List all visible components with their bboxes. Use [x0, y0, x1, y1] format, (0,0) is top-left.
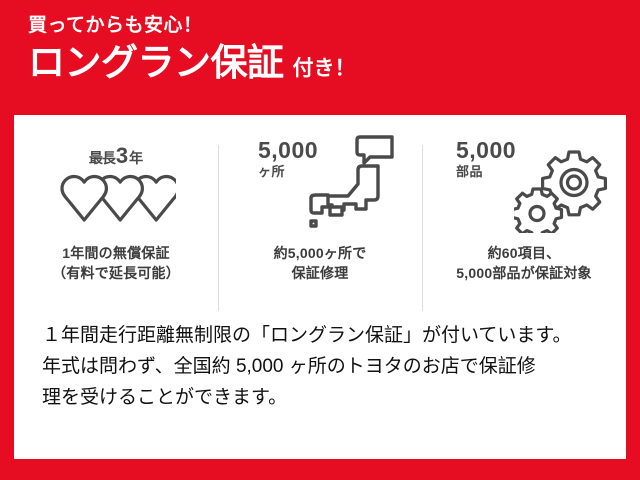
- warranty-term-caption: 1年間の無償保証 （有料で延長可能）: [52, 243, 180, 284]
- warranty-term-art: 最長 3 年: [56, 143, 176, 232]
- warranty-term-label: 最長 3 年: [89, 143, 143, 169]
- service-locations-caption: 約5,000ヶ所で 保証修理: [274, 243, 367, 284]
- description-line-3: 理を受けることができます。: [42, 383, 602, 414]
- warranty-term-icon-block: 最長 3 年: [20, 131, 212, 243]
- content-card: 最長 3 年: [14, 115, 626, 459]
- covered-parts-caption: 約60項目、 5,000部品が保証対象: [456, 243, 591, 284]
- service-locations-icon-block: 5,000 ヶ所: [224, 131, 416, 243]
- warranty-term-caption-line2: （有料で延長可能）: [52, 263, 180, 283]
- warranty-term-prefix: 最長: [89, 148, 115, 168]
- banner-title-suffix: 付き！: [293, 52, 356, 82]
- service-locations-caption-line2: 保証修理: [274, 263, 367, 283]
- gears-icon: [514, 149, 608, 238]
- description-paragraph: １年間走行距離無制限の「ロングラン保証」が付いています。 年式は問わず、全国約 …: [42, 321, 602, 413]
- description-line-1: １年間走行距離無制限の「ロングラン保証」が付いています。: [42, 321, 602, 352]
- long-run-warranty-banner: 買ってからも安心！ ロングラン保証 付き！ 最長 3 年: [0, 0, 640, 480]
- banner-title: ロングラン保証: [28, 44, 284, 83]
- covered-parts-label: 5,000 部品: [456, 139, 516, 178]
- banner-kicker: 買ってからも安心！: [28, 14, 356, 38]
- warranty-term-caption-line1: 1年間の無償保証: [52, 243, 180, 263]
- feature-service-locations: 5,000 ヶ所: [218, 131, 422, 311]
- feature-covered-parts: 5,000 部品: [422, 131, 626, 311]
- covered-parts-icon-block: 5,000 部品: [428, 131, 620, 243]
- covered-parts-unit: 部品: [456, 165, 516, 178]
- covered-parts-number: 5,000: [456, 139, 516, 162]
- covered-parts-caption-line1: 約60項目、: [456, 243, 591, 263]
- warranty-term-unit: 年: [129, 148, 143, 168]
- three-hearts-icon: [56, 171, 176, 232]
- banner-title-row: ロングラン保証 付き！: [28, 44, 356, 83]
- japan-map-icon: [308, 133, 398, 238]
- covered-parts-caption-line2: 5,000部品が保証対象: [456, 263, 591, 283]
- banner-header: 買ってからも安心！ ロングラン保証 付き！: [28, 14, 356, 83]
- service-locations-caption-line1: 約5,000ヶ所で: [274, 243, 367, 263]
- description-line-2: 年式は問わず、全国約 5,000 ヶ所のトヨタのお店で保証修: [42, 352, 602, 383]
- warranty-term-number: 3: [116, 143, 128, 169]
- feature-columns: 最長 3 年: [14, 115, 626, 311]
- feature-warranty-term: 最長 3 年: [14, 131, 218, 311]
